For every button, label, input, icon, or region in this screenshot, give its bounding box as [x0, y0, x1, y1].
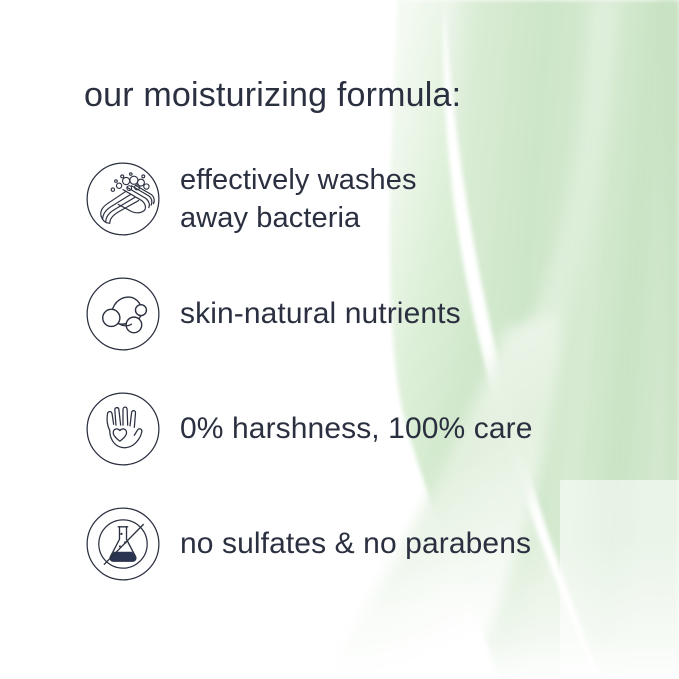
hand-heart-icon — [84, 390, 162, 468]
benefits-list: effectively washes away bacteria — [84, 160, 644, 620]
molecule-icon — [84, 275, 162, 353]
page-title: our moisturizing formula: — [84, 76, 461, 115]
list-item-label: skin-natural nutrients — [180, 275, 461, 353]
list-item: skin-natural nutrients — [84, 275, 644, 390]
list-item-label: 0% harshness, 100% care — [180, 390, 533, 468]
list-item: effectively washes away bacteria — [84, 160, 644, 275]
poster-content: our moisturizing formula: — [0, 0, 679, 679]
list-item-label: no sulfates & no parabens — [180, 505, 531, 583]
list-item-label: effectively washes away bacteria — [180, 160, 417, 238]
product-benefits-poster: our moisturizing formula: — [0, 0, 679, 679]
list-item: 0% harshness, 100% care — [84, 390, 644, 505]
flask-prohibited-icon — [84, 505, 162, 583]
list-item: no sulfates & no parabens — [84, 505, 644, 620]
washing-hands-icon — [84, 160, 162, 238]
